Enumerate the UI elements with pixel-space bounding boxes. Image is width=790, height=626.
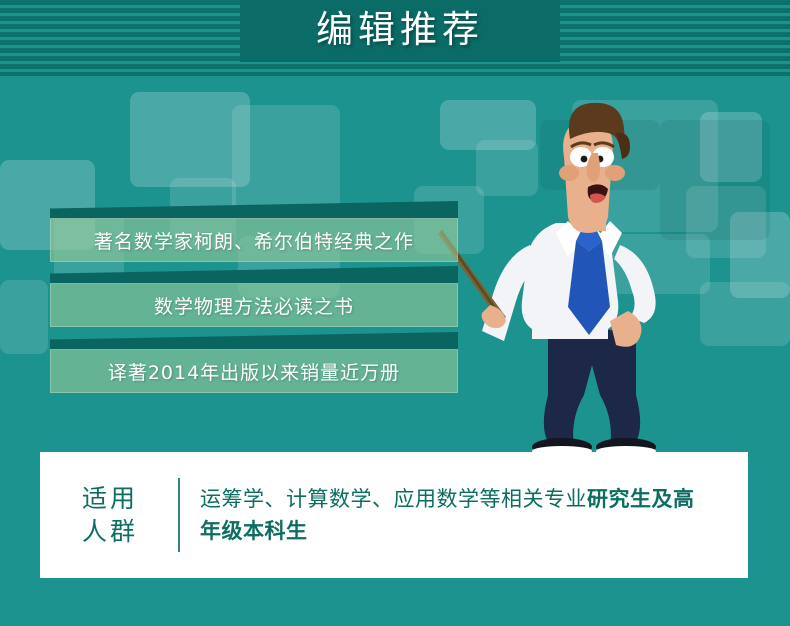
audience-label: 适用 人群	[82, 482, 174, 548]
page-title: 编辑推荐	[240, 6, 560, 54]
ear-left	[559, 165, 579, 181]
trousers-shape	[544, 330, 640, 447]
audience-divider	[178, 478, 180, 552]
banner-text: 数学物理方法必读之书	[50, 283, 458, 327]
audience-label-line2: 人群	[82, 515, 174, 548]
arm-right	[614, 245, 656, 323]
banner-text: 著名数学家柯朗、希尔伯特经典之作	[50, 218, 458, 262]
ear-right	[605, 165, 625, 181]
promo-page: 编辑推荐	[0, 0, 790, 626]
audience-panel: 适用 人群 运筹学、计算数学、应用数学等相关专业研究生及高年级本科生	[40, 452, 748, 578]
audience-label-line1: 适用	[82, 482, 174, 515]
hand-left	[482, 305, 506, 328]
feature-banner-1: 著名数学家柯朗、希尔伯特经典之作	[50, 218, 458, 262]
bg-square	[0, 280, 48, 354]
audience-description: 运筹学、计算数学、应用数学等相关专业研究生及高年级本科生	[200, 483, 700, 547]
audience-description-regular: 运筹学、计算数学、应用数学等相关专业	[200, 487, 587, 511]
feature-banner-2: 数学物理方法必读之书	[50, 283, 458, 327]
banner-text: 译著2014年出版以来销量近万册	[50, 349, 458, 393]
feature-banner-3: 译著2014年出版以来销量近万册	[50, 349, 458, 393]
bg-square	[232, 105, 340, 213]
header-title-plate: 编辑推荐	[240, 0, 560, 62]
